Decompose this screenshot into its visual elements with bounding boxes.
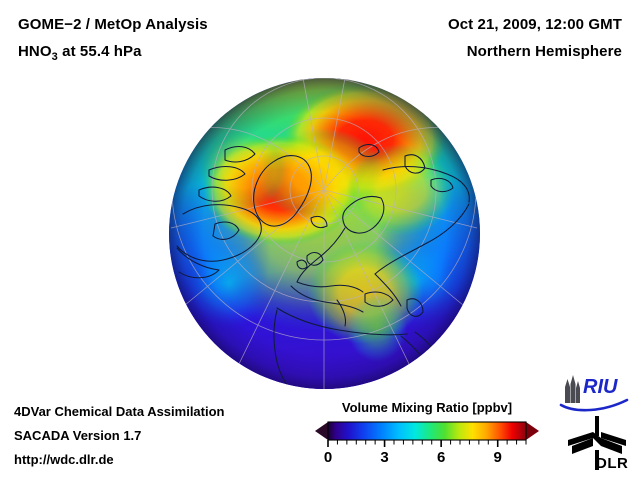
colorbar-ticks: [328, 440, 526, 447]
colorbar-tick-label: 3: [380, 449, 388, 466]
species-subtitle: HNO3 at 55.4 hPa: [18, 43, 142, 63]
dlr-wordmark: DLR: [596, 455, 628, 470]
globe-field-svg: [169, 78, 480, 389]
colorbar-tick-label: 0: [324, 449, 332, 466]
page-title: GOME−2 / MetOp Analysis: [18, 16, 208, 33]
field-limb-shading: [169, 78, 480, 389]
globe-field-layer: [169, 78, 480, 389]
timestamp: Oct 21, 2009, 12:00 GMT: [448, 16, 622, 33]
colorbar-tick-label: 9: [494, 449, 502, 466]
colorbar-title: Volume Mixing Ratio [ppbv]: [314, 400, 540, 415]
globe-disc: [169, 78, 480, 389]
riu-wordmark: RIU: [583, 376, 618, 398]
footer-line-url[interactable]: http://wdc.dlr.de: [14, 452, 114, 467]
colorbar-bar: [328, 422, 526, 440]
species-level: at 55.4 hPa: [58, 43, 142, 60]
riu-logo: RIU: [559, 373, 629, 413]
dlr-logo: DLR: [566, 416, 628, 470]
footer-line-version: SACADA Version 1.7: [14, 428, 141, 443]
colorbar: Volume Mixing Ratio [ppbv] 0369: [314, 400, 540, 472]
riu-tower-icon: [565, 375, 580, 403]
globe-map: [169, 78, 480, 389]
colorbar-cap-high: [526, 422, 539, 440]
colorbar-scale: [314, 420, 540, 448]
footer-line-method: 4DVar Chemical Data Assimilation: [14, 404, 225, 419]
colorbar-tick-labels: 0369: [314, 449, 540, 471]
figure-canvas: GOME−2 / MetOp Analysis HNO3 at 55.4 hPa…: [0, 0, 640, 480]
colorbar-cap-low: [315, 422, 328, 440]
colorbar-tick-label: 6: [437, 449, 445, 466]
species-label: HNO: [18, 43, 52, 60]
region-label: Northern Hemisphere: [467, 43, 622, 60]
